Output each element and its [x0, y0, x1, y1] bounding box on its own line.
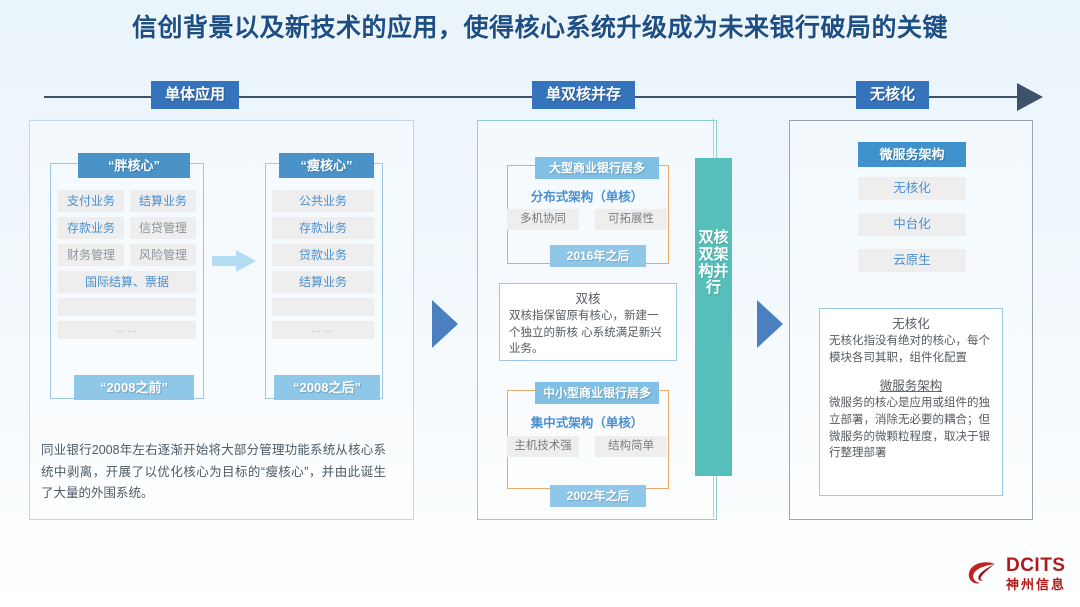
module-item-ellipsis: …… — [272, 321, 374, 339]
tag-item: 结构简单 — [595, 436, 667, 457]
module-item: 支付业务 — [58, 190, 124, 212]
timeline: 单体应用 单双核并存 无核化 — [44, 95, 1039, 99]
teal-bar-stem-top — [713, 118, 714, 160]
module-item: 财务管理 — [58, 244, 124, 266]
module-item: 贷款业务 — [272, 244, 374, 266]
dual-core-parallel-bar: 双核双架构并行 — [695, 158, 732, 476]
panel-monolithic-note: 同业银行2008年左右逐渐开始将大部分管理功能系统从核心系统中剥离，开展了以优化… — [41, 440, 386, 505]
module-item: 结算业务 — [130, 190, 196, 212]
coreless-tag-item: 中台化 — [858, 213, 966, 236]
definition-title: 无核化 — [820, 309, 1002, 332]
dual-core-parallel-label: 双核双架构并行 — [695, 158, 732, 297]
coreless-tag-item: 云原生 — [858, 249, 966, 272]
timeline-stage-2[interactable]: 单双核并存 — [532, 81, 635, 109]
company-logo: DCITS 神州信息 — [965, 556, 1066, 591]
logo-text-cn: 神州信息 — [1006, 578, 1066, 591]
dcits-mark-icon — [965, 557, 999, 591]
large-bank-subtitle: 分布式架构（单核） — [507, 186, 667, 205]
module-item: 存款业务 — [58, 217, 124, 239]
fat-core-caption: “胖核心” — [78, 153, 190, 178]
large-bank-caption: 大型商业银行居多 — [535, 157, 659, 179]
fat-core-module-list: 支付业务 结算业务 存款业务 信贷管理 财务管理 风险管理 国际结算、票据 …… — [58, 190, 196, 339]
small-bank-caption: 中小型商业银行居多 — [535, 382, 659, 404]
module-item: 信贷管理 — [130, 217, 196, 239]
microservice-chip[interactable]: 微服务架构 — [858, 142, 966, 167]
panel-transition-arrow-2-icon — [757, 300, 783, 348]
definition-body: 无核化指没有绝对的核心，每个模块各司其职，组件化配置 — [820, 332, 1002, 366]
module-item-blank — [272, 298, 374, 316]
coreless-definition: 无核化 无核化指没有绝对的核心，每个模块各司其职，组件化配置 微服务架构 微服务… — [819, 308, 1003, 496]
module-item: 风险管理 — [130, 244, 196, 266]
fat-core-year: “2008之前” — [74, 375, 194, 400]
slide-root: 信创背景以及新技术的应用，使得核心系统升级成为未来银行破局的关键 单体应用 单双… — [0, 0, 1080, 607]
tag-item: 多机协同 — [507, 209, 579, 230]
thinning-arrow-icon — [212, 250, 256, 272]
definition-title: 双核 — [500, 284, 676, 307]
module-item: 公共业务 — [272, 190, 374, 212]
dual-core-definition: 双核 双核指保留原有核心，新建一个独立的新核 心系统满足新兴业务。 — [499, 283, 677, 361]
small-bank-subtitle: 集中式架构（单核） — [507, 412, 667, 431]
teal-bar-stem-bottom — [713, 474, 714, 518]
module-item-ellipsis: …… — [58, 321, 196, 339]
module-item-blank — [58, 298, 196, 316]
tag-item: 可拓展性 — [595, 209, 667, 230]
definition-body: 双核指保留原有核心，新建一个独立的新核 心系统满足新兴业务。 — [500, 307, 676, 358]
module-item: 结算业务 — [272, 271, 374, 293]
thin-core-module-list: 公共业务 存款业务 贷款业务 结算业务 …… — [272, 190, 374, 339]
tag-item: 主机技术强 — [507, 436, 579, 457]
logo-text-en: DCITS — [1006, 556, 1066, 575]
timeline-stage-3[interactable]: 无核化 — [856, 81, 929, 109]
large-bank-tags: 多机协同 可拓展性 — [507, 209, 667, 230]
small-bank-tags: 主机技术强 结构简单 — [507, 436, 667, 457]
panel-transition-arrow-1-icon — [432, 300, 458, 348]
definition-subtitle: 微服务架构 — [820, 366, 1002, 394]
thin-core-year: “2008之后” — [274, 375, 380, 400]
timeline-arrow-icon — [1017, 83, 1043, 111]
coreless-tag-item: 无核化 — [858, 177, 966, 200]
timeline-stage-1[interactable]: 单体应用 — [151, 81, 239, 109]
thin-core-caption: “瘦核心” — [279, 153, 374, 178]
page-title: 信创背景以及新技术的应用，使得核心系统升级成为未来银行破局的关键 — [0, 8, 1080, 44]
module-item: 国际结算、票据 — [58, 271, 196, 293]
small-bank-year: 2002年之后 — [550, 485, 646, 507]
large-bank-year: 2016年之后 — [550, 245, 646, 267]
definition-sub-body: 微服务的核心是应用或组件的独立部署，消除无必要的耦合；但微服务的微颗粒程度，取决… — [820, 394, 1002, 462]
module-item: 存款业务 — [272, 217, 374, 239]
